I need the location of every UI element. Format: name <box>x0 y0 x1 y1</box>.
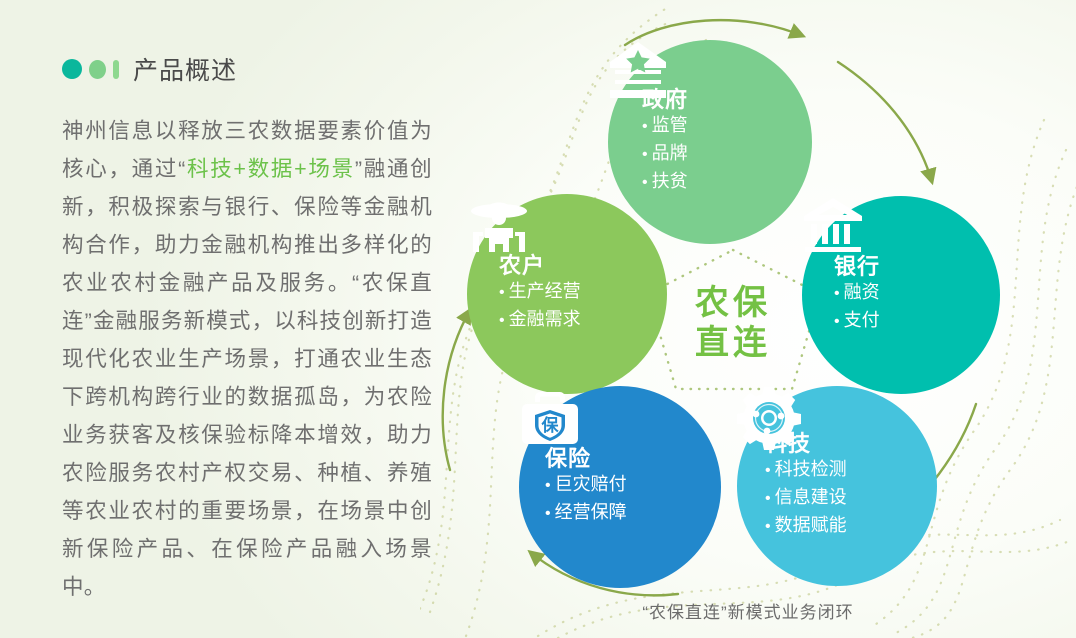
teal-dot-icon <box>62 59 82 79</box>
node-technology[interactable]: 科技 科技检测 信息建设 数据赋能 <box>737 386 937 586</box>
infographic-canvas: 产品概述 神州信息以释放三农数据要素价值为核心，通过“科技+数据+场景”融通创新… <box>0 0 1076 638</box>
section-header: 产品概述 <box>62 52 432 86</box>
overview-paragraph: 神州信息以释放三农数据要素价值为核心，通过“科技+数据+场景”融通创新，积极探索… <box>62 112 432 606</box>
node-insurance-item-0: 巨灾赔付 <box>545 471 627 499</box>
node-bank[interactable]: 银行 融资 支付 <box>802 196 1000 394</box>
center-label-line-1: 农保 <box>695 283 771 323</box>
node-government-item-1: 品牌 <box>642 140 688 168</box>
node-farmer-title: 农户 <box>499 254 581 278</box>
node-technology-item-2: 数据赋能 <box>765 512 847 540</box>
node-insurance-title: 保险 <box>545 447 627 471</box>
node-government-item-2: 扶贫 <box>642 168 688 196</box>
node-bank-text: 银行 融资 支付 <box>834 255 880 335</box>
node-government-text: 政府 监管 品牌 扶贫 <box>642 88 688 196</box>
page-title: 产品概述 <box>133 51 237 87</box>
paragraph-highlight: 科技+数据+场景 <box>186 157 355 181</box>
paragraph-part-2: ”融通创新，积极探索与银行、保险等金融机构合作，助力金融机构推出多样化的农业农村… <box>62 157 432 599</box>
node-farmer-text: 农户 生产经营 金融需求 <box>499 254 581 334</box>
business-loop-diagram: 农户 生产经营 金融需求 政府 监管 品牌 扶贫 <box>420 0 1076 638</box>
node-insurance-text: 保险 巨灾赔付 经营保障 <box>545 447 627 527</box>
node-insurance[interactable]: 保 保险 巨灾赔付 经营保障 <box>519 386 721 588</box>
center-badge: 农保 直连 <box>647 253 819 393</box>
node-technology-item-0: 科技检测 <box>765 456 847 484</box>
node-government-item-0: 监管 <box>642 112 688 140</box>
svg-text:保: 保 <box>541 415 560 435</box>
green-dot-icon <box>89 60 106 79</box>
node-bank-title: 银行 <box>834 255 880 279</box>
node-bank-item-1: 支付 <box>834 307 880 335</box>
node-technology-item-1: 信息建设 <box>765 484 847 512</box>
node-farmer-item-1: 金融需求 <box>499 306 581 334</box>
node-government[interactable]: 政府 监管 品牌 扶贫 <box>608 40 812 244</box>
node-farmer-item-0: 生产经营 <box>499 278 581 306</box>
node-farmer[interactable]: 农户 生产经营 金融需求 <box>467 194 667 394</box>
green-bar-icon <box>113 60 119 79</box>
node-bank-item-0: 融资 <box>834 279 880 307</box>
center-label-line-2: 直连 <box>695 323 771 363</box>
node-insurance-item-1: 经营保障 <box>545 499 627 527</box>
diagram-caption: “农保直连”新模式业务闭环 <box>420 598 1076 623</box>
overview-section: 产品概述 神州信息以释放三农数据要素价值为核心，通过“科技+数据+场景”融通创新… <box>62 52 432 606</box>
